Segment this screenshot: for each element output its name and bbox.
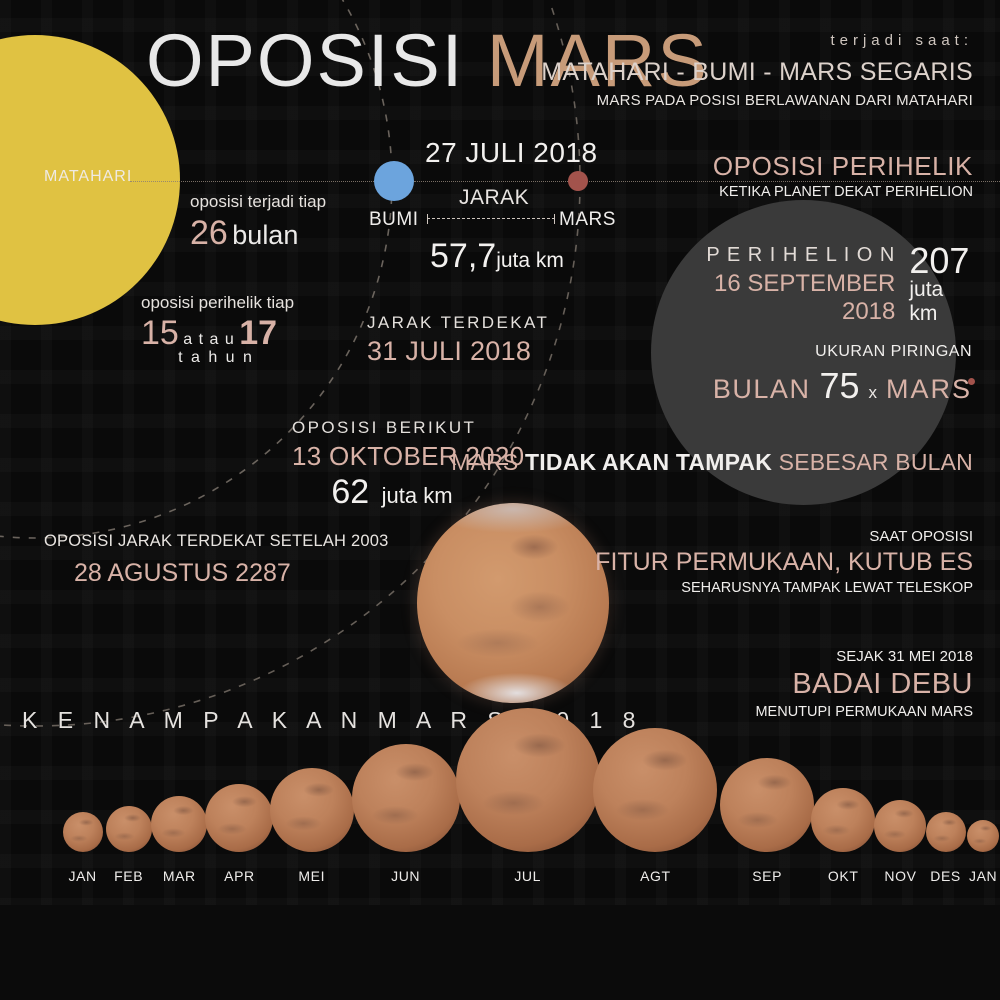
perihelic-conjunction: a t a u (183, 331, 234, 348)
alignment-line-mid (414, 181, 570, 182)
surface-features-kicker: SAAT OPOSISI (595, 528, 973, 545)
mars-disc-nov-10 (874, 800, 926, 852)
month-label-mar-2: MAR (149, 868, 209, 884)
interval-caption: oposisi terjadi tiap (190, 192, 326, 212)
mars-disc-mei-4 (270, 768, 354, 852)
alignment-line-left (130, 181, 400, 182)
earth-dot (374, 161, 414, 201)
closest-distance-block: JARAK TERDEKAT 31 JULI 2018 (367, 313, 549, 367)
surface-features-block: SAAT OPOSISI FITUR PERMUKAAN, KUTUB ES S… (595, 528, 973, 596)
mars-dot (568, 171, 588, 191)
opposition-interval-stat: oposisi terjadi tiap 26 bulan (190, 192, 326, 253)
dust-storm-kicker: SEJAK 31 MEI 2018 (755, 648, 973, 665)
perihelion-value: 207 (909, 244, 972, 278)
perihelion-unit: juta km (909, 278, 972, 326)
perihelic-caption: oposisi perihelik tiap (141, 293, 294, 313)
mars-scale-dot (968, 378, 975, 385)
disk-size-caption: UKURAN PIRINGAN (652, 343, 972, 361)
dust-storm-subline: MENUTUPI PERMUKAAN MARS (755, 704, 973, 720)
month-label-mei-4: MEI (282, 868, 342, 884)
not-as-big-post: SEBESAR BULAN (772, 449, 973, 475)
disk-size-mars-word: MARS (886, 374, 972, 405)
mars-disc-des-11 (926, 812, 966, 852)
month-label-okt-9: OKT (813, 868, 873, 884)
mars-disc-okt-9 (811, 788, 875, 852)
alignment-headline: MATAHARI - BUMI - MARS SEGARIS (541, 58, 973, 87)
month-label-jan-12: JAN (953, 868, 1000, 884)
closest-distance-label: JARAK TERDEKAT (367, 313, 549, 333)
mars-disc-jan-12 (967, 820, 999, 852)
perihelic-value-2: 17 (239, 314, 277, 352)
alignment-subline: MARS PADA POSISI BERLAWANAN DARI MATAHAR… (541, 92, 973, 109)
mars-label: MARS (559, 209, 616, 231)
mars-disc-jul-6 (456, 708, 600, 852)
next-opposition-label: OPOSISI BERIKUT (292, 418, 524, 438)
month-label-sep-8: SEP (737, 868, 797, 884)
earth-label: BUMI (369, 209, 419, 231)
opposition-date: 27 JULI 2018 (425, 137, 598, 169)
closest-after-2003-date: 28 AGUSTUS 2287 (74, 559, 388, 588)
surface-features-subline: SEHARUSNYA TAMPAK LEWAT TELESKOP (595, 580, 973, 596)
next-opposition-unit: juta km (382, 483, 453, 508)
sun-label: MATAHARI (44, 168, 132, 186)
perihelic-opposition-title: OPOSISI PERIHELIK (713, 151, 973, 182)
mars-disc-apr-3 (205, 784, 273, 852)
infographic-poster: MATAHARI OPOSISI MARS terjadi saat: MATA… (0, 0, 1000, 1000)
perihelion-block: P E R I H E L I O N 16 SEPTEMBER 2018 20… (672, 244, 972, 326)
distance-value-group: 57,7juta km (430, 237, 564, 276)
mars-photo (417, 503, 609, 703)
disk-size-times: x (868, 383, 877, 403)
dust-storm-headline: BADAI DEBU (755, 668, 973, 701)
not-as-big-callout: MARS TIDAK AKAN TAMPAK SEBESAR BULAN (451, 449, 973, 476)
month-label-jul-6: JUL (498, 868, 558, 884)
mars-disc-jan-0 (63, 812, 103, 852)
next-opposition-block: OPOSISI BERIKUT 13 OKTOBER 2020 62 juta … (292, 418, 524, 512)
closest-after-2003-label: OPOSISI JARAK TERDEKAT SETELAH 2003 (44, 532, 388, 551)
mars-disc-feb-1 (106, 806, 152, 852)
month-label-jun-5: JUN (376, 868, 436, 884)
perihelion-date: 16 SEPTEMBER 2018 (672, 270, 895, 326)
perihelic-opposition-subtitle: KETIKA PLANET DEKAT PERIHELION (713, 184, 973, 200)
perihelic-interval-stat: oposisi perihelik tiap 15 a t a u 17 t a… (141, 293, 294, 367)
surface-features-headline: FITUR PERMUKAAN, KUTUB ES (595, 548, 973, 577)
mars-disc-jun-5 (352, 744, 460, 852)
distance-value: 57,7 (430, 237, 496, 275)
month-label-apr-3: APR (209, 868, 269, 884)
perihelic-opposition-callout: OPOSISI PERIHELIK KETIKA PLANET DEKAT PE… (713, 151, 973, 200)
next-opposition-value: 62 (331, 473, 369, 511)
distance-unit: juta km (496, 249, 564, 272)
disk-size-moon-word: BULAN (713, 374, 811, 405)
perihelic-value-1: 15 (141, 314, 179, 352)
disk-size-factor: 75 (819, 365, 859, 407)
dust-storm-block: SEJAK 31 MEI 2018 BADAI DEBU MENUTUPI PE… (755, 648, 973, 720)
mars-disc-mar-2 (151, 796, 207, 852)
mars-disc-sep-8 (720, 758, 814, 852)
interval-unit: bulan (232, 220, 298, 250)
not-as-big-bold: TIDAK AKAN TAMPAK (525, 449, 772, 475)
alignment-kicker: terjadi saat: (541, 32, 973, 49)
distance-measure-rule (427, 218, 555, 219)
closest-distance-date: 31 JULI 2018 (367, 336, 549, 367)
perihelion-label: P E R I H E L I O N (672, 244, 895, 267)
next-opposition-date: 13 OKTOBER 2020 (292, 441, 524, 472)
mars-disc-agt-7 (593, 728, 717, 852)
disk-size-block: UKURAN PIRINGAN BULAN 75 x MARS (652, 343, 972, 407)
alignment-callout: terjadi saat: MATAHARI - BUMI - MARS SEG… (541, 32, 973, 109)
closest-after-2003-block: OPOSISI JARAK TERDEKAT SETELAH 2003 28 A… (44, 532, 388, 588)
title-part-1: OPOSISI (146, 19, 464, 102)
mars-appearance-strip: JANFEBMARAPRMEIJUNJULAGTSEPOKTNOVDESJAN (0, 760, 1000, 900)
month-label-agt-7: AGT (625, 868, 685, 884)
distance-label: JARAK (459, 186, 529, 210)
interval-value: 26 (190, 214, 228, 252)
footer-bar: LANGITSELATAN ASTRO 101 langitselatan KO… (0, 905, 1000, 1000)
